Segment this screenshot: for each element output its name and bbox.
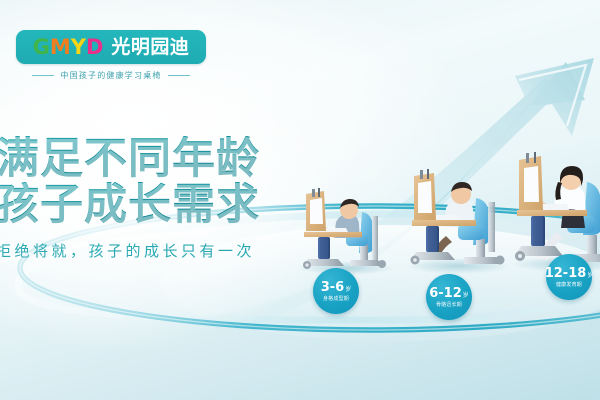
- age-range-value: 12-18: [545, 266, 587, 281]
- tagline-rule-right: [168, 75, 190, 76]
- age-stage-label: 身格成型期: [323, 297, 349, 302]
- headline-line-1: 满足不同年龄: [0, 136, 306, 182]
- age-stage-label: 骨骼迅长期: [436, 303, 462, 308]
- age-unit: 岁: [345, 286, 351, 293]
- brand-tagline: 中国孩子的健康学习桌椅: [16, 70, 206, 81]
- logo-letter-g: G: [33, 37, 50, 58]
- age-badge-6-12[interactable]: 6-12岁 骨骼迅长期: [426, 274, 472, 320]
- tagline-text: 中国孩子的健康学习桌椅: [60, 70, 161, 81]
- brand-logo[interactable]: G M Y D 光明园迪 中国孩子的健康学习桌椅: [16, 30, 206, 81]
- product-desk-small[interactable]: [292, 176, 400, 274]
- age-stage-label: 健康发育期: [556, 283, 582, 288]
- age-range-value: 3-6: [321, 280, 345, 295]
- age-badge-3-6[interactable]: 3-6岁 身格成型期: [313, 268, 359, 314]
- age-unit: 岁: [463, 292, 469, 299]
- headline-subtitle: 拒绝将就，孩子的成长只有一次: [0, 240, 306, 261]
- tagline-rule-left: [32, 75, 54, 76]
- product-desk-large[interactable]: [505, 152, 600, 274]
- logo-pill: G M Y D 光明园迪: [16, 30, 206, 64]
- age-badge-label: 6-12岁: [429, 287, 469, 300]
- product-desk-medium[interactable]: [400, 164, 518, 274]
- age-badge-label: 12-18岁: [545, 267, 594, 280]
- age-unit: 岁: [587, 272, 593, 279]
- logo-letter-y: Y: [71, 37, 86, 58]
- age-badge-12-18[interactable]: 12-18岁 健康发育期: [546, 254, 592, 300]
- age-range-value: 6-12: [429, 286, 462, 301]
- headline-line-2: 孩子成长需求: [0, 182, 306, 228]
- banner-stage: G M Y D 光明园迪 中国孩子的健康学习桌椅 满足不同年龄 孩子成长需求 拒…: [0, 0, 600, 400]
- age-badge-label: 3-6岁: [321, 281, 352, 294]
- headline-block: 满足不同年龄 孩子成长需求 拒绝将就，孩子的成长只有一次: [0, 136, 306, 261]
- logo-name-chinese: 光明园迪: [111, 38, 189, 57]
- logo-letter-m: M: [50, 37, 71, 58]
- logo-wordmark-gmyd: G M Y D: [33, 37, 104, 58]
- logo-letter-d: D: [86, 37, 103, 58]
